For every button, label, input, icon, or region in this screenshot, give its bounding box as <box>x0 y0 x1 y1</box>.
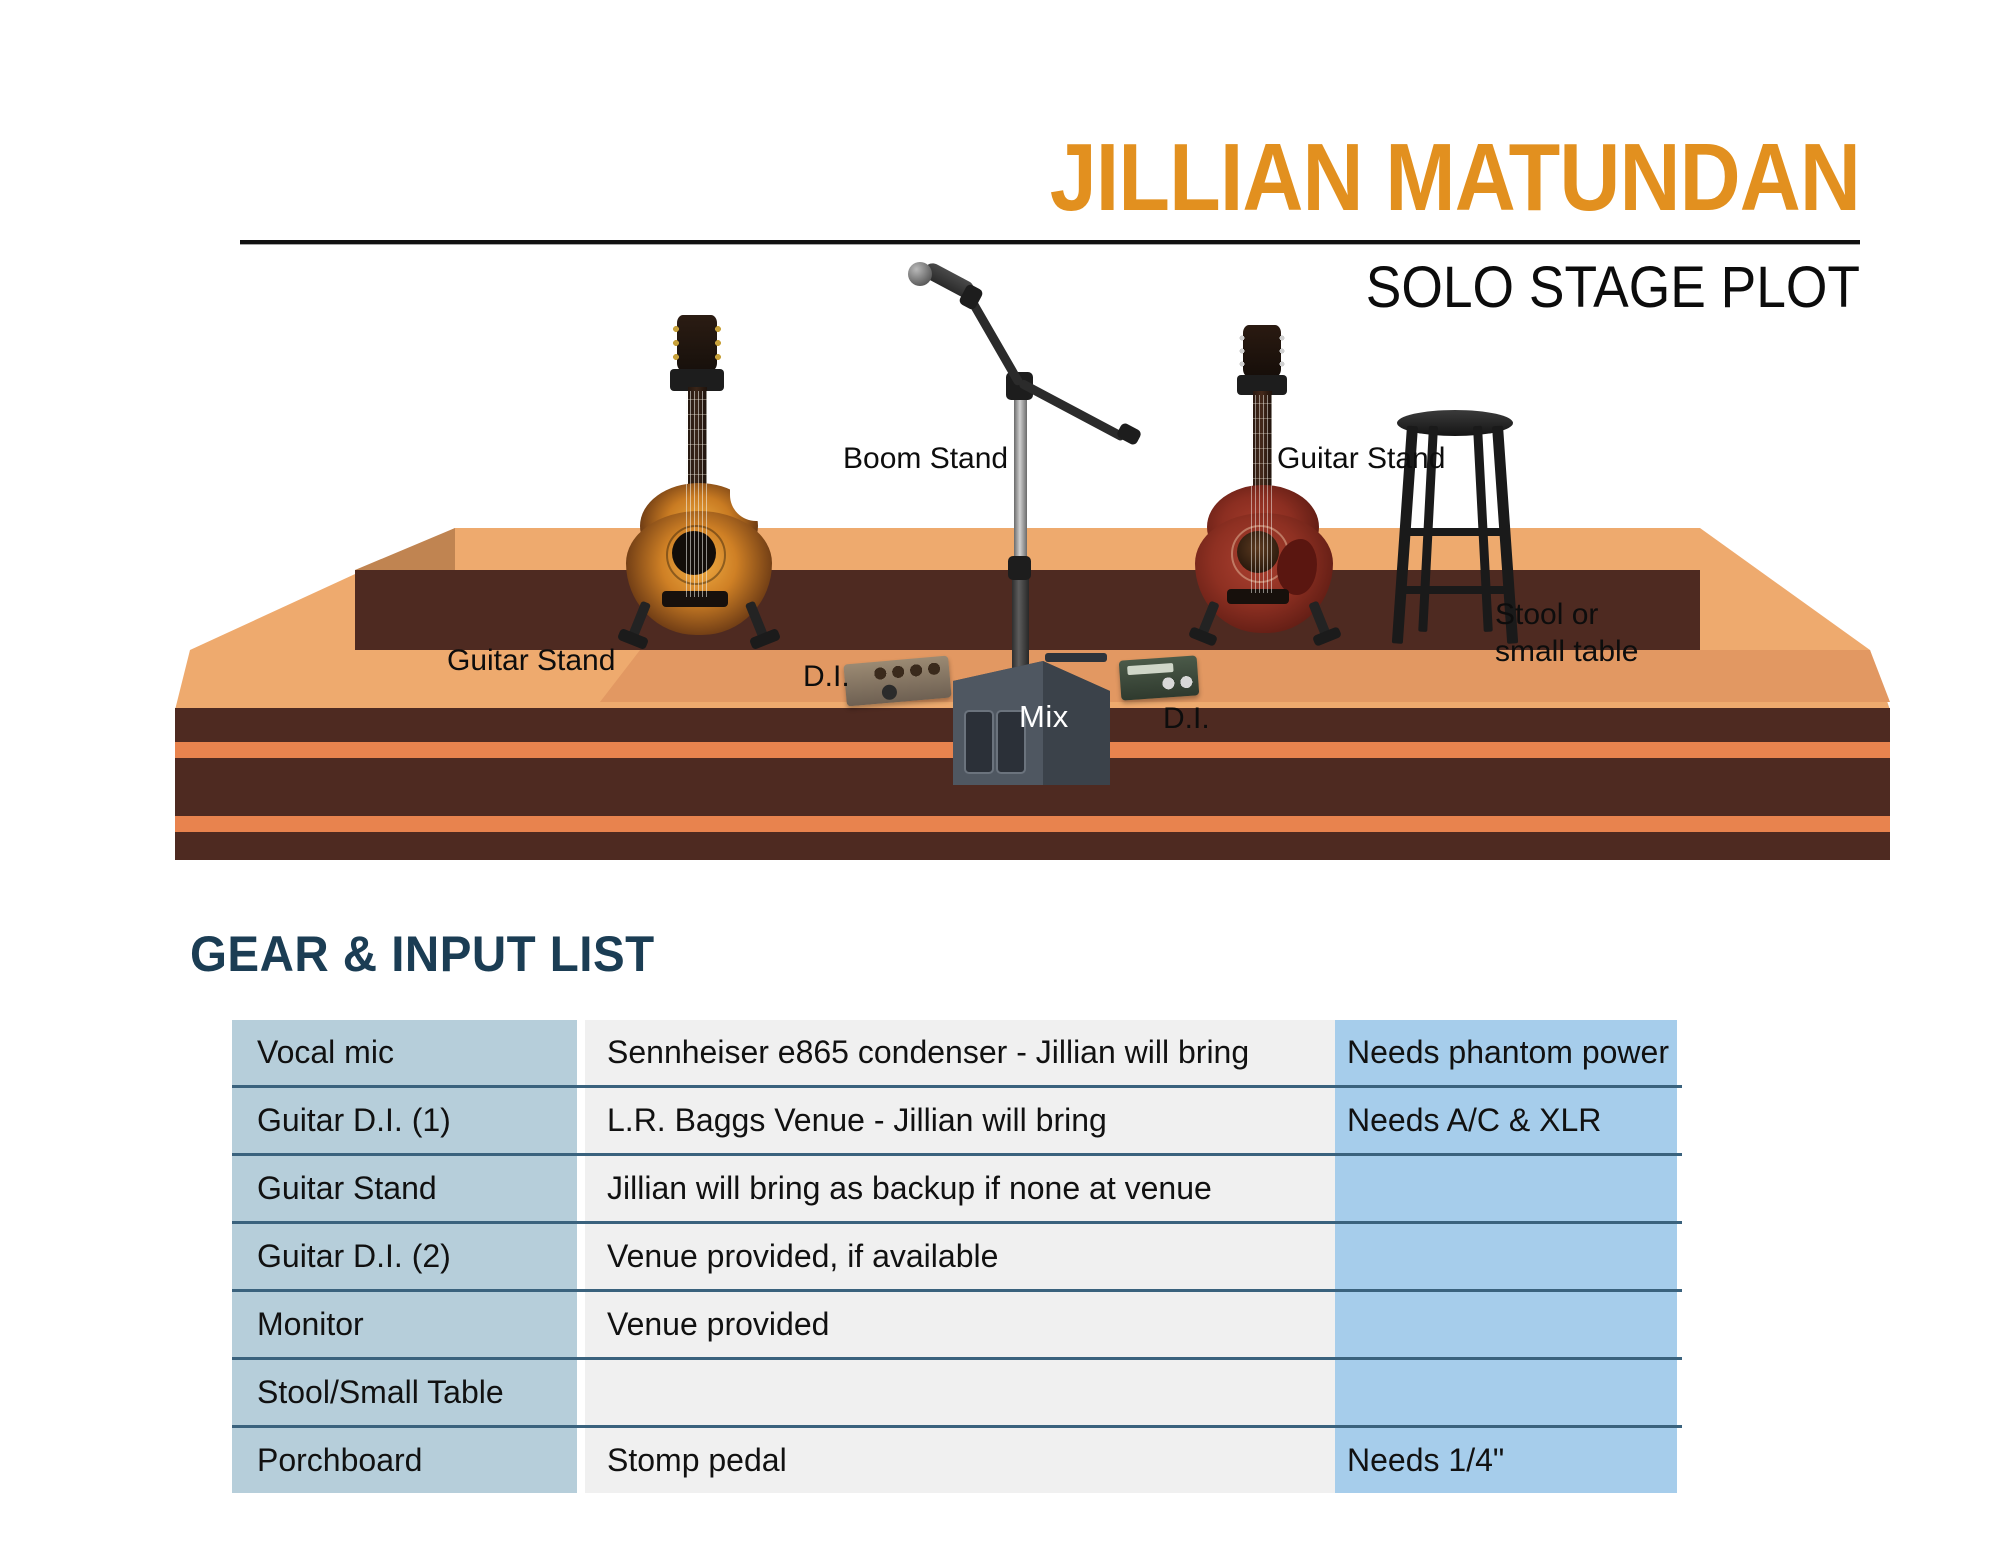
gear-input-table: Vocal mic Sennheiser e865 condenser - Ji… <box>232 1020 1682 1493</box>
guitar-left <box>612 315 782 645</box>
stool-rung-lower <box>1403 586 1509 594</box>
label-stool-line1: Stool or <box>1495 598 1598 632</box>
gear-list-heading: GEAR & INPUT LIST <box>190 925 655 983</box>
gear-item-cell: Porchboard <box>232 1428 577 1493</box>
gear-item-text: Porchboard <box>257 1442 422 1479</box>
gear-detail-cell <box>585 1360 1335 1425</box>
gear-detail-text: L.R. Baggs Venue - Jillian will bring <box>607 1102 1107 1139</box>
boom-stand-height-clutch <box>1008 556 1031 580</box>
gear-detail-text: Jillian will bring as backup if none at … <box>607 1170 1212 1207</box>
column-gap <box>577 1360 585 1425</box>
table-row: Porchboard Stomp pedal Needs 1/4" <box>232 1425 1682 1493</box>
stage-diagram: Mix Guitar Stand Boom Stand Guitar Stand… <box>0 330 2000 910</box>
gear-detail-cell: Jillian will bring as backup if none at … <box>585 1156 1335 1221</box>
gear-item-text: Guitar D.I. (1) <box>257 1102 451 1139</box>
monitor-wedge: Mix <box>935 635 1125 795</box>
column-gap <box>577 1292 585 1357</box>
gear-note-text: Needs 1/4" <box>1347 1442 1504 1479</box>
gear-item-text: Vocal mic <box>257 1034 394 1071</box>
gear-note-cell: Needs phantom power <box>1335 1020 1677 1085</box>
stool-rung-upper <box>1407 528 1505 536</box>
gear-item-cell: Vocal mic <box>232 1020 577 1085</box>
gear-note-text: Needs A/C & XLR <box>1347 1102 1601 1139</box>
table-row: Monitor Venue provided <box>232 1289 1682 1357</box>
gear-note-cell <box>1335 1156 1677 1221</box>
gear-detail-text: Stomp pedal <box>607 1442 787 1479</box>
boom-arm <box>1018 379 1126 442</box>
gear-item-text: Monitor <box>257 1306 364 1343</box>
column-gap <box>577 1020 585 1085</box>
gear-note-cell: Needs A/C & XLR <box>1335 1088 1677 1153</box>
label-stool-line2: small table <box>1495 635 1638 669</box>
boom-stand-upper-pole <box>1014 388 1027 578</box>
gear-item-text: Guitar Stand <box>257 1170 437 1207</box>
di-left-knobs <box>872 660 943 682</box>
gear-detail-cell: Sennheiser e865 condenser - Jillian will… <box>585 1020 1335 1085</box>
di-right-label-plate <box>1127 663 1174 675</box>
gear-note-cell <box>1335 1292 1677 1357</box>
guitar2-tuner-pegs <box>1239 333 1285 369</box>
stage-plot-page: JILLIAN MATUNDAN SOLO STAGE PLOT <box>0 0 2000 1545</box>
gear-detail-cell: Stomp pedal <box>585 1428 1335 1493</box>
gear-detail-text: Venue provided <box>607 1306 829 1343</box>
gear-note-cell <box>1335 1224 1677 1289</box>
gear-item-cell: Guitar D.I. (2) <box>232 1224 577 1289</box>
di-box-right <box>1119 655 1200 700</box>
label-guitar-stand-left: Guitar Stand <box>447 644 615 678</box>
table-row: Vocal mic Sennheiser e865 condenser - Ji… <box>232 1020 1682 1085</box>
tuner-pegs <box>672 323 722 363</box>
gear-detail-cell: Venue provided, if available <box>585 1224 1335 1289</box>
di-left-jack <box>881 684 897 700</box>
gear-item-text: Guitar D.I. (2) <box>257 1238 451 1275</box>
table-row: Guitar Stand Jillian will bring as backu… <box>232 1153 1682 1221</box>
gear-detail-text: Venue provided, if available <box>607 1238 998 1275</box>
gear-note-text: Needs phantom power <box>1347 1034 1669 1071</box>
table-row: Stool/Small Table <box>232 1357 1682 1425</box>
column-gap <box>577 1224 585 1289</box>
guitar2-strings <box>1251 395 1273 593</box>
label-guitar-stand-right: Guitar Stand <box>1277 442 1445 476</box>
gear-item-text: Stool/Small Table <box>257 1374 504 1411</box>
gear-detail-cell: L.R. Baggs Venue - Jillian will bring <box>585 1088 1335 1153</box>
gear-note-cell: Needs 1/4" <box>1335 1428 1677 1493</box>
gear-item-cell: Guitar D.I. (1) <box>232 1088 577 1153</box>
gear-note-cell <box>1335 1360 1677 1425</box>
gear-detail-text: Sennheiser e865 condenser - Jillian will… <box>607 1034 1249 1071</box>
guitar-strings <box>686 391 708 597</box>
gear-item-cell: Monitor <box>232 1292 577 1357</box>
page-title: JILLIAN MATUNDAN <box>434 130 1860 226</box>
gear-item-cell: Guitar Stand <box>232 1156 577 1221</box>
column-gap <box>577 1088 585 1153</box>
label-di-left: D.I. <box>803 660 850 694</box>
table-row: Guitar D.I. (2) Venue provided, if avail… <box>232 1221 1682 1289</box>
table-row: Guitar D.I. (1) L.R. Baggs Venue - Jilli… <box>232 1085 1682 1153</box>
title-divider <box>240 240 1860 244</box>
gear-detail-cell: Venue provided <box>585 1292 1335 1357</box>
di-right-jacks <box>1160 674 1195 692</box>
column-gap <box>577 1428 585 1493</box>
gear-item-cell: Stool/Small Table <box>232 1360 577 1425</box>
microphone-grille <box>908 262 932 286</box>
boom-counterweight <box>1116 422 1143 446</box>
label-di-right: D.I. <box>1163 702 1210 736</box>
label-boom-stand: Boom Stand <box>843 442 1008 476</box>
column-gap <box>577 1156 585 1221</box>
monitor-mix-label: Mix <box>1019 699 1069 735</box>
guitar-right <box>1185 325 1345 645</box>
guitar2-stand-front-foot-right <box>1312 626 1342 647</box>
